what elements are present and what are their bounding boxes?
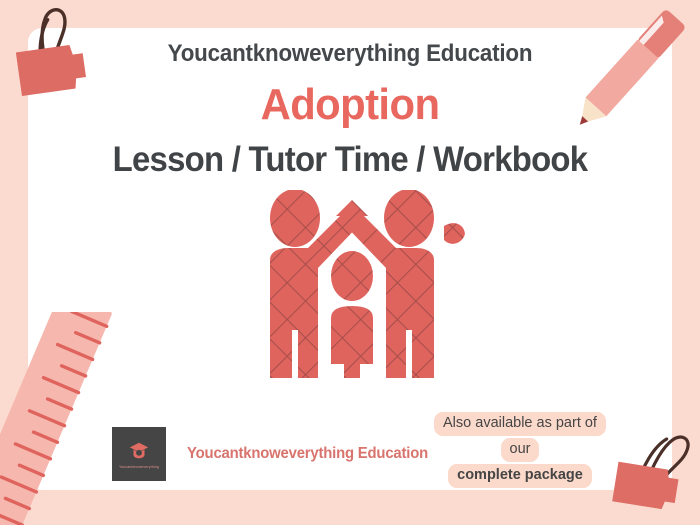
family-adoption-icon — [232, 190, 472, 380]
ruler-bottom-left-icon — [0, 312, 150, 525]
binder-clip-bottom-right-icon — [612, 418, 700, 518]
footer-brand-block: Youcantknoweverything Youcantknoweveryth… — [112, 427, 433, 481]
footer-brand-name: Youcantknoweverything Education — [187, 445, 428, 463]
page-subtitle: Lesson / Tutor Time / Workbook — [47, 140, 652, 180]
badge-line-1: Also available as part of — [434, 412, 606, 436]
badge-line-2: our — [501, 438, 540, 462]
badge-line-3: complete package — [448, 464, 592, 488]
binder-clip-top-left-icon — [0, 0, 98, 101]
poster-canvas: Youcantknoweverything Education Adoption… — [0, 0, 700, 525]
availability-badge: Also available as part of our complete p… — [414, 411, 626, 489]
pen-top-right-icon — [560, 0, 700, 144]
